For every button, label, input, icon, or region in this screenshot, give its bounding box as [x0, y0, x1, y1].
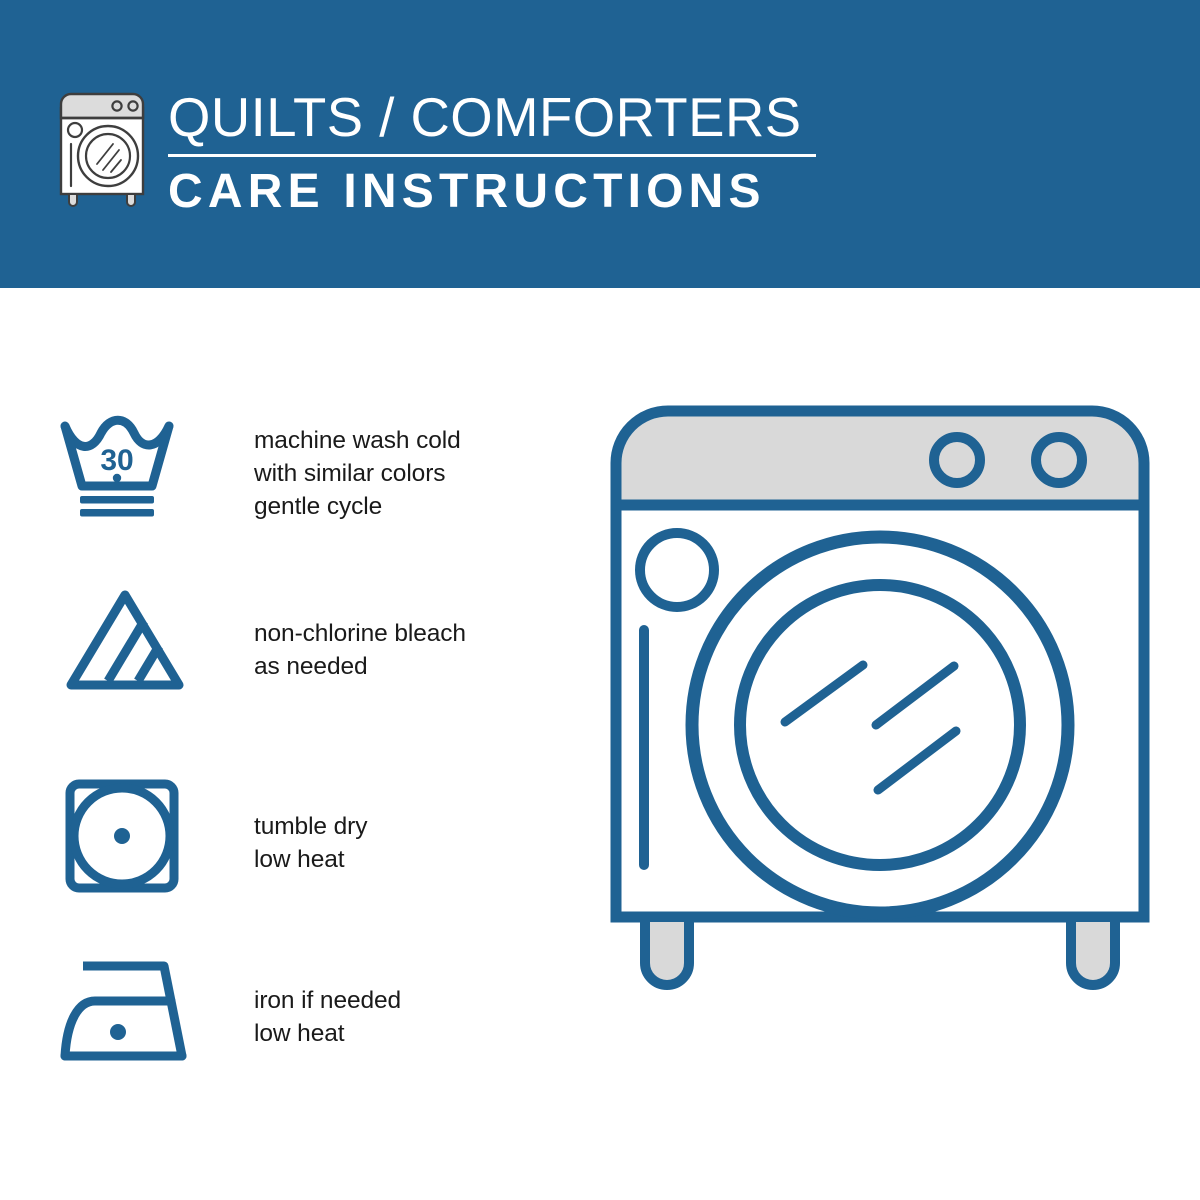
care-text-bleach: non-chlorine bleach as needed — [254, 617, 554, 683]
care-instructions-page: QUILTS / COMFORTERS CARE INSTRUCTIONS 30… — [0, 0, 1200, 1200]
bleach-triangle-icon — [60, 585, 200, 705]
care-text-line: tumble dry — [254, 810, 554, 843]
care-text-line: low heat — [254, 843, 554, 876]
care-row-bleach: non-chlorine bleach as needed — [0, 585, 560, 715]
care-text-line: with similar colors — [254, 457, 554, 490]
care-row-machine-wash: 30 machine wash cold with similar colors… — [0, 412, 560, 542]
care-text-iron: iron if needed low heat — [254, 984, 554, 1050]
knob-left[interactable] — [934, 437, 980, 483]
title-divider — [168, 154, 816, 157]
care-text-line: machine wash cold — [254, 424, 554, 457]
care-text-line: as needed — [254, 650, 554, 683]
care-text-line: non-chlorine bleach — [254, 617, 554, 650]
care-text-line: low heat — [254, 1017, 554, 1050]
wash-heat-dot — [113, 474, 121, 482]
washing-machine-illustration — [600, 400, 1160, 1120]
care-row-tumble-dry: tumble dry low heat — [0, 778, 560, 908]
care-text-line: iron if needed — [254, 984, 554, 1017]
tumble-dry-icon — [60, 778, 200, 898]
gentle-bar-2 — [80, 509, 154, 517]
foot-right — [1071, 917, 1115, 985]
knob-right[interactable] — [1036, 437, 1082, 483]
washing-machine-icon — [55, 82, 153, 208]
wash-temperature-label: 30 — [100, 444, 133, 477]
foot-left — [645, 917, 689, 985]
page-title-secondary: CARE INSTRUCTIONS — [168, 165, 828, 219]
page-title-primary: QUILTS / COMFORTERS — [168, 86, 821, 148]
gentle-bar-1 — [80, 496, 154, 504]
care-text-line: gentle cycle — [254, 490, 554, 523]
tumble-dry-heat-dot — [114, 828, 130, 844]
header-title-block: QUILTS / COMFORTERS CARE INSTRUCTIONS — [168, 86, 828, 219]
care-row-iron: iron if needed low heat — [0, 952, 560, 1082]
logo-knob-left — [112, 101, 121, 110]
care-text-tumble-dry: tumble dry low heat — [254, 810, 554, 876]
iron-icon — [60, 952, 200, 1072]
header-band: QUILTS / COMFORTERS CARE INSTRUCTIONS — [0, 0, 1200, 288]
wash-tub-30-icon: 30 — [60, 412, 200, 532]
logo-knob-right — [128, 101, 137, 110]
detergent-drawer-circle[interactable] — [640, 533, 714, 607]
iron-heat-dot — [110, 1024, 126, 1040]
care-text-machine-wash: machine wash cold with similar colors ge… — [254, 424, 554, 523]
